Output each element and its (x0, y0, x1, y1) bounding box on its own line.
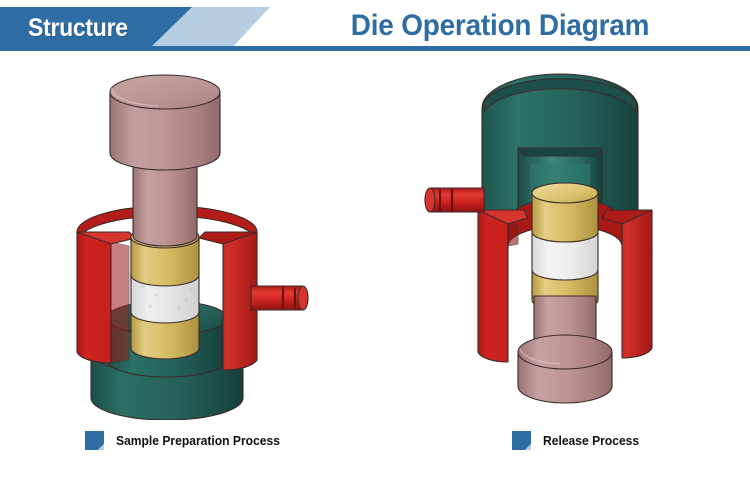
header-underline-rule (0, 46, 750, 51)
page-header: Structure Die Operation Diagram (0, 0, 750, 55)
header-badge-label: Structure (28, 11, 166, 45)
vacuum-nozzle (251, 286, 308, 310)
sample-preparation-diagram (55, 60, 385, 420)
caption-label: Release Process (543, 433, 639, 448)
blue-square-bullet-icon (85, 431, 104, 450)
caption-label: Sample Preparation Process (116, 433, 280, 448)
blue-square-bullet-icon (512, 431, 531, 450)
caption-sample-preparation: Sample Preparation Process (85, 429, 292, 451)
figures-row (0, 60, 750, 420)
vacuum-nozzle (425, 188, 484, 212)
release-diagram (400, 60, 730, 420)
ejector-base (518, 335, 612, 403)
die-operation-diagram-page: Structure Die Operation Diagram (0, 0, 750, 483)
plunger-cap (110, 75, 220, 170)
page-title: Die Operation Diagram (295, 6, 704, 46)
upper-pellet-ring (532, 183, 598, 242)
caption-release: Release Process (512, 429, 646, 451)
